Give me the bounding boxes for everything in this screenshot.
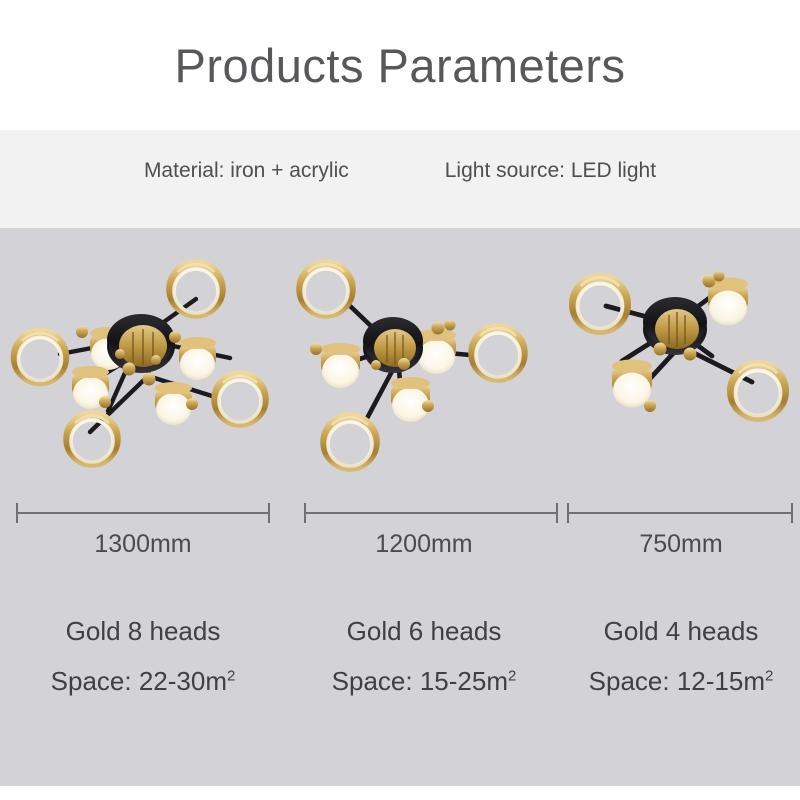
space-label-text: Space: 15-25m: [332, 666, 508, 696]
spec-light-source: Light source: LED light: [445, 156, 656, 186]
product-column-gold-4-heads: 750mm Gold 4 heads Space: 12-15m2: [562, 228, 800, 786]
ceiling-mount: [107, 314, 175, 373]
space-label-text: Space: 12-15m: [589, 666, 765, 696]
light-disc: [391, 377, 430, 422]
chandelier-illustration-6-heads: [286, 236, 562, 496]
heads-label: Gold 6 heads: [286, 614, 562, 648]
ceiling-mount: [643, 297, 707, 355]
dimension-bar: [16, 502, 270, 524]
space-label: Space: 12-15m2: [562, 664, 800, 698]
light-ring: [67, 414, 117, 464]
heads-label: Gold 8 heads: [0, 614, 286, 648]
light-disc: [179, 337, 216, 380]
light-ring: [215, 374, 265, 424]
product-column-gold-8-heads: 1300mm Gold 8 heads Space: 22-30m2: [0, 228, 286, 786]
space-label: Space: 15-25m2: [286, 664, 562, 698]
dimension-bar: [304, 502, 558, 524]
light-disc: [321, 343, 360, 388]
footer-band: [0, 786, 800, 800]
spec-material: Material: iron + acrylic: [144, 156, 349, 186]
light-ring: [170, 263, 222, 315]
light-ring: [573, 277, 627, 331]
specs-band: Material: iron + acrylic Light source: L…: [0, 130, 800, 228]
light-ring: [15, 332, 66, 383]
chandelier-illustration-8-heads: [0, 236, 286, 496]
space-label-superscript: 2: [765, 667, 773, 684]
dimension-cap-right: [556, 503, 558, 523]
width-label: 1200mm: [286, 528, 562, 560]
dimension-line: [16, 512, 270, 514]
dimension-cap-right: [791, 503, 793, 523]
page-title: Products Parameters: [0, 38, 800, 94]
space-label-superscript: 2: [508, 667, 516, 684]
light-ring: [300, 263, 352, 315]
space-label: Space: 22-30m2: [0, 664, 286, 698]
space-label-superscript: 2: [227, 667, 235, 684]
products-area: 1300mm Gold 8 heads Space: 22-30m2: [0, 228, 800, 786]
dimension-line: [567, 512, 793, 514]
product-column-gold-6-heads: 1200mm Gold 6 heads Space: 15-25m2: [286, 228, 562, 786]
space-label-text: Space: 22-30m: [51, 666, 227, 696]
heads-label: Gold 4 heads: [562, 614, 800, 648]
light-ring: [472, 327, 524, 379]
light-disc: [612, 360, 652, 408]
width-label: 750mm: [562, 528, 800, 560]
light-ring: [731, 364, 785, 418]
light-disc: [417, 329, 456, 374]
width-label: 1300mm: [0, 528, 286, 560]
chandelier-illustration-4-heads: [562, 236, 800, 496]
dimension-line: [304, 512, 558, 514]
dimension-bar: [567, 502, 793, 524]
product-parameters-page: Products Parameters Material: iron + acr…: [0, 0, 800, 800]
light-ring: [324, 416, 376, 468]
title-band: Products Parameters: [0, 0, 800, 130]
dimension-cap-right: [268, 503, 270, 523]
specs-row: Material: iron + acrylic Light source: L…: [0, 156, 800, 186]
